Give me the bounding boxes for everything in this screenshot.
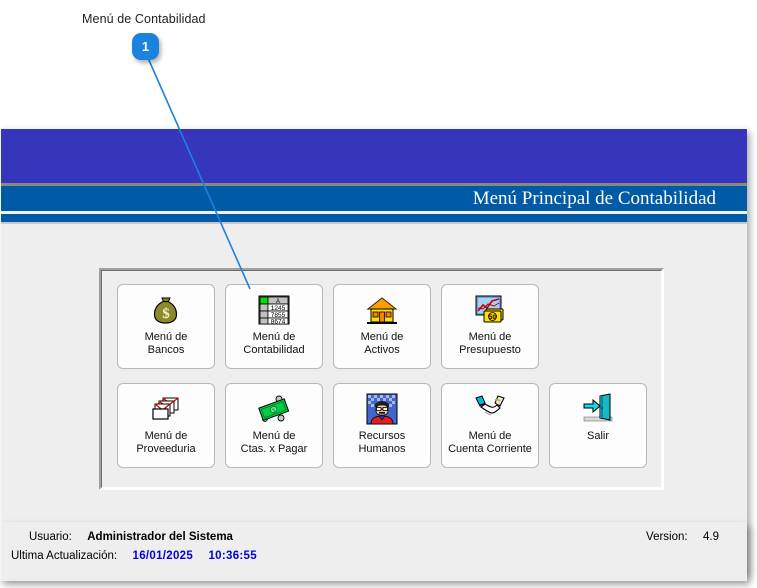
svg-text:$: $ <box>162 306 170 322</box>
annotation-label: Menú de Contabilidad <box>82 12 206 26</box>
menu-button-recursos-humanos[interactable]: Recursos Humanos <box>333 383 431 468</box>
page-title: Menú Principal de Contabilidad <box>473 188 747 210</box>
menu-button-label: Menú de Contabilidad <box>243 331 304 357</box>
status-bar: Usuario: Administrador del Sistema Ultim… <box>0 522 747 581</box>
menu-button-label: Recursos Humanos <box>358 430 405 456</box>
status-version-value: 4.9 <box>703 531 719 543</box>
handshake-icon <box>472 391 508 427</box>
chart-money-icon: 50 <box>472 292 508 328</box>
menu-button-salir[interactable]: Salir <box>549 383 647 468</box>
status-update-date: 16/01/2025 <box>133 550 194 562</box>
application-window: Menú Principal de Contabilidad $ <box>0 128 747 574</box>
window-titlebar: Menú Principal de Contabilidad <box>1 186 747 211</box>
status-update-time: 10:36:55 <box>208 550 256 562</box>
menu-button-label: Menú de Ctas. x Pagar <box>241 430 308 456</box>
status-update-label: Ultima Actualización: <box>11 550 117 562</box>
status-version-label: Version: <box>646 531 688 543</box>
house-icon <box>364 292 400 328</box>
documents-stack-icon <box>148 391 184 427</box>
header-blue-rule <box>1 214 747 222</box>
svg-text:50: 50 <box>489 315 496 321</box>
menu-button-activos[interactable]: Menú de Activos <box>333 284 431 369</box>
svg-text:1245: 1245 <box>271 305 286 312</box>
menu-button-label: Menú de Bancos <box>145 331 188 357</box>
banknote-coins-icon: $ <box>256 391 292 427</box>
menu-group-panel: $ Menú de Bancos A <box>99 268 664 490</box>
menu-button-label: Menú de Activos <box>361 331 404 357</box>
menu-button-grid: $ Menú de Bancos A <box>117 284 657 468</box>
status-user-name: Administrador del Sistema <box>87 531 233 543</box>
menu-button-cuenta-corriente[interactable]: Menú de Cuenta Corriente <box>441 383 539 468</box>
menu-button-label: Menú de Proveeduria <box>136 430 195 456</box>
exit-door-icon <box>580 391 616 427</box>
menu-button-bancos[interactable]: $ Menú de Bancos <box>117 284 215 369</box>
menu-button-proveeduria[interactable]: Menú de Proveeduria <box>117 383 215 468</box>
screenshot-root: Menú de Contabilidad 1 Menú Principal de… <box>0 0 757 588</box>
status-user-row: Usuario: Administrador del Sistema <box>29 531 233 543</box>
status-version-row: Version: 4.9 <box>646 531 719 543</box>
person-portrait-icon <box>364 391 400 427</box>
menu-button-label: Salir <box>587 430 609 443</box>
menu-button-label: Menú de Cuenta Corriente <box>448 430 532 456</box>
header-band-top <box>1 129 747 183</box>
menu-button-contabilidad[interactable]: A 1245 7855 8674 <box>225 284 323 369</box>
menu-button-label: Menú de Presupuesto <box>459 331 521 357</box>
svg-text:8674: 8674 <box>271 319 286 326</box>
status-user-label: Usuario: <box>29 531 72 543</box>
spreadsheet-icon: A 1245 7855 8674 <box>256 292 292 328</box>
menu-button-ctas-x-pagar[interactable]: $ Menú de Ctas. x Pagar <box>225 383 323 468</box>
status-update-row: Ultima Actualización: 16/01/2025 10:36:5… <box>11 550 257 562</box>
money-bag-icon: $ <box>148 292 184 328</box>
menu-button-presupuesto[interactable]: 50 Menú de Presupuesto <box>441 284 539 369</box>
annotation-badge-1: 1 <box>132 33 159 60</box>
